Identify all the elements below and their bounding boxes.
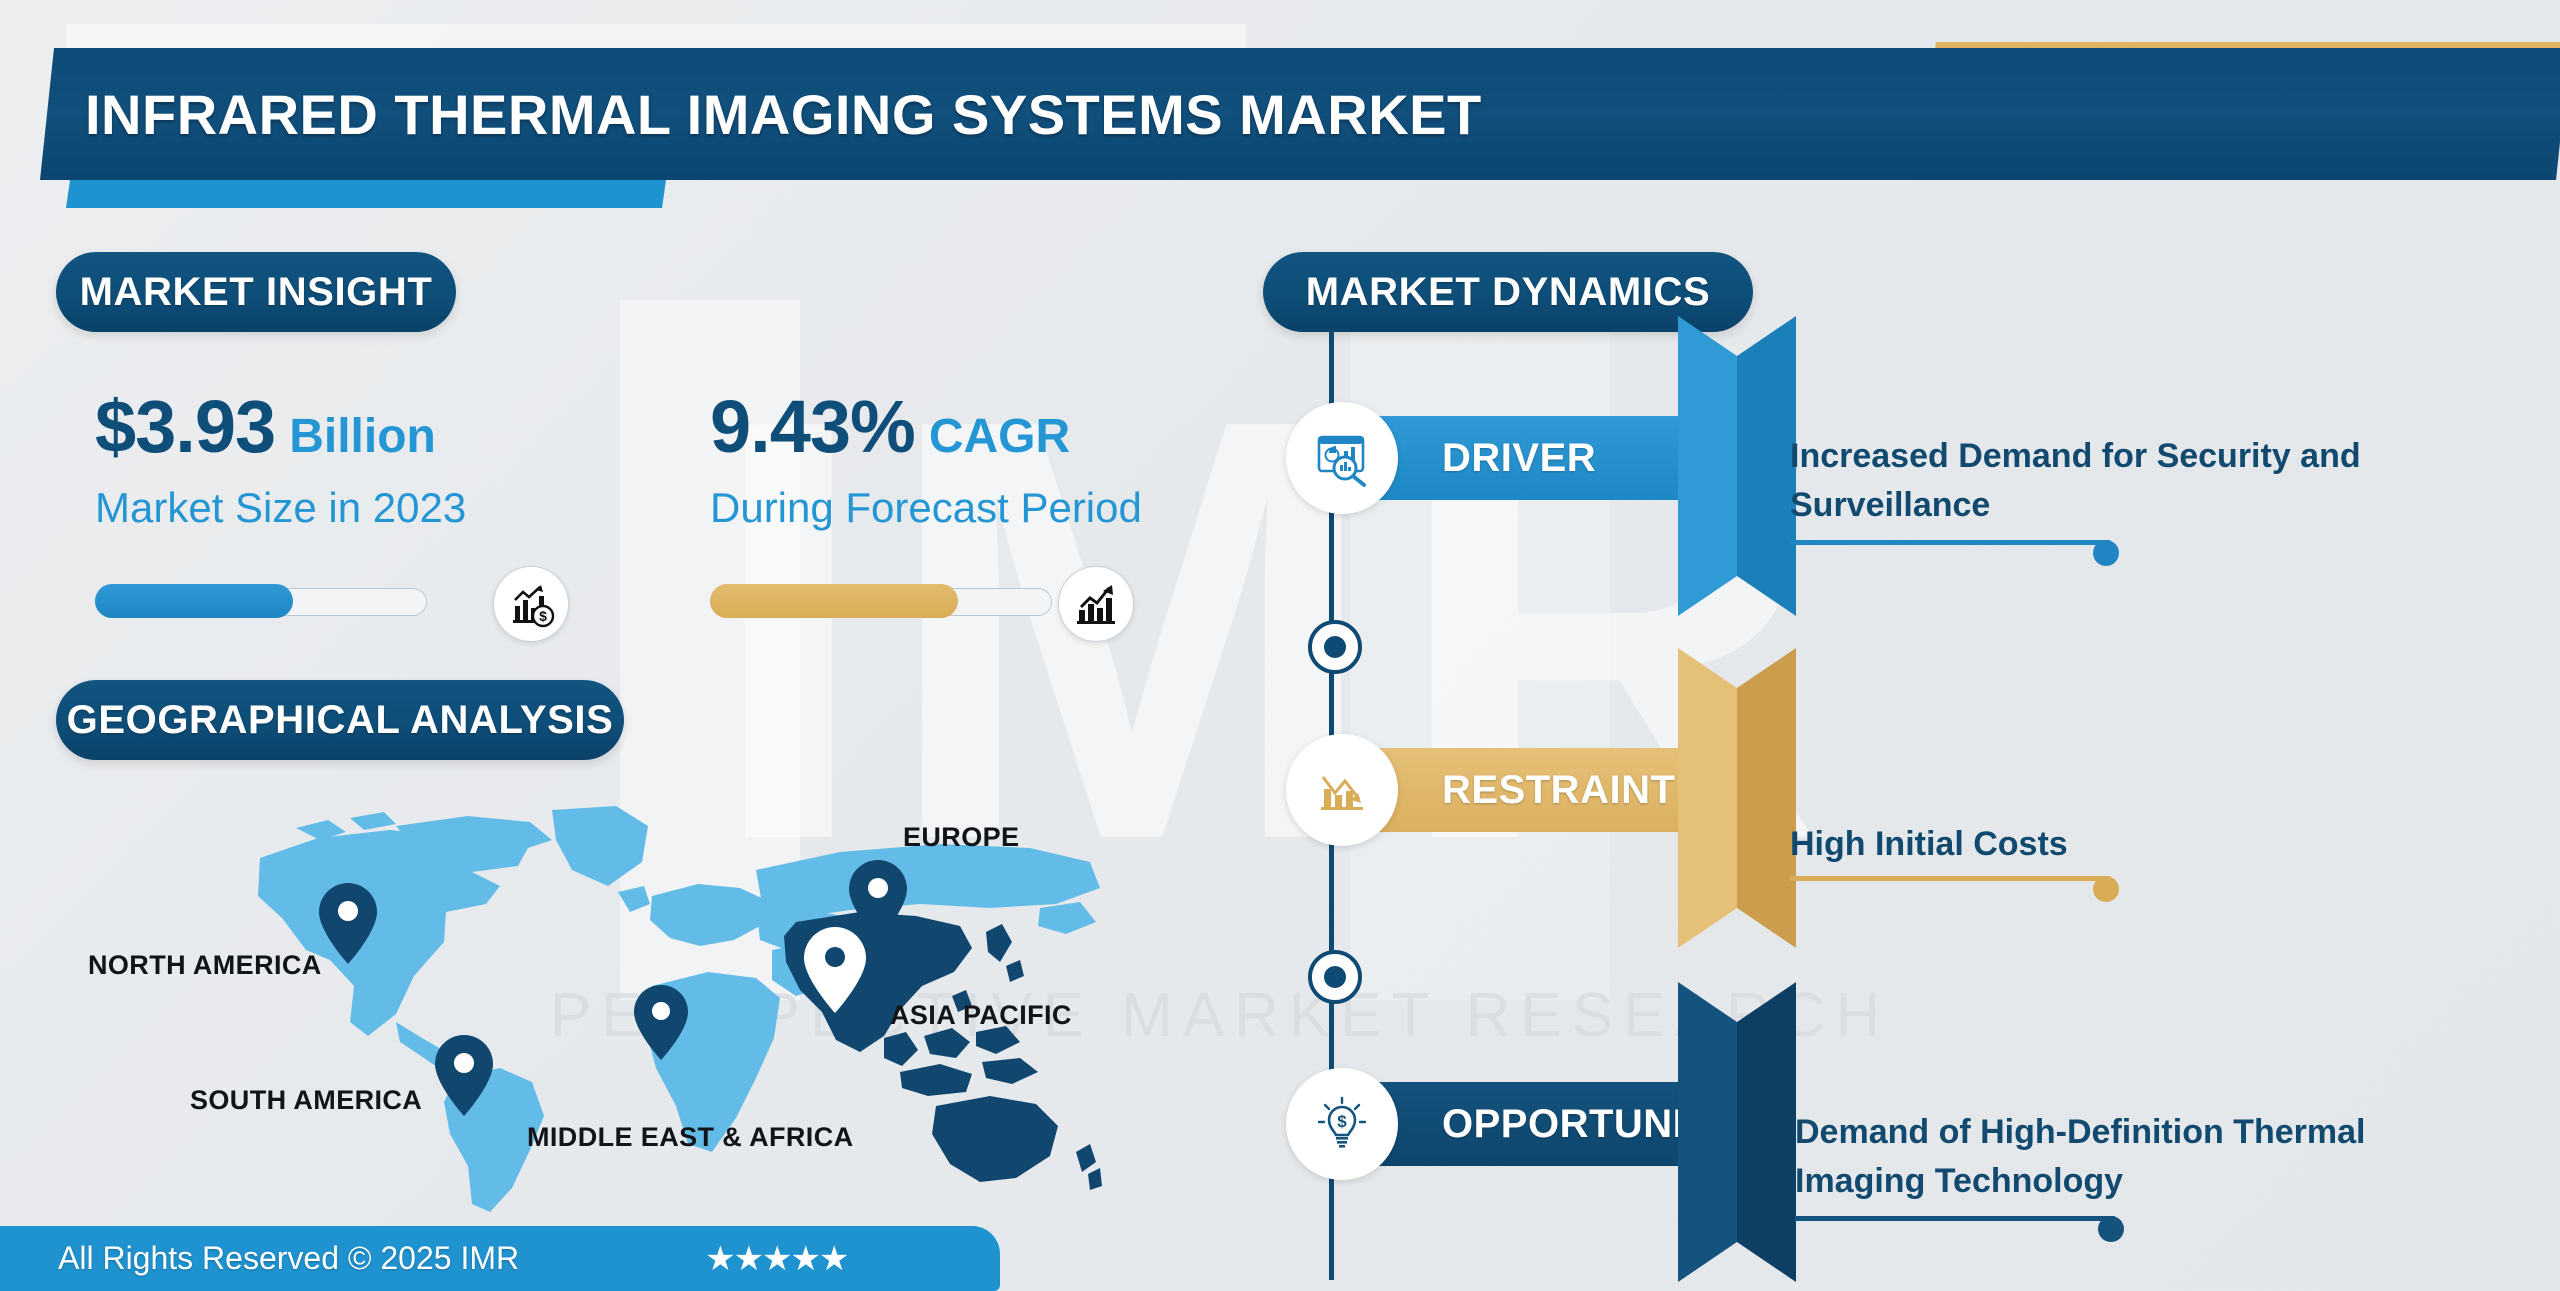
progress-fill: [710, 584, 958, 618]
timeline-node: [1308, 950, 1362, 1004]
chart-magnifier-icon: [1286, 402, 1398, 514]
cagr-value: 9.43%: [710, 385, 915, 468]
market-size-progress: $: [95, 566, 466, 640]
region-label-asia-pacific: ASIA PACIFIC: [890, 1000, 1072, 1031]
lightbulb-dollar-icon: $: [1286, 1068, 1398, 1180]
opportunity-description: Demand of High-Definition Thermal Imagin…: [1795, 1108, 2365, 1207]
world-map: [200, 800, 1230, 1220]
copyright-text: All Rights Reserved © 2025 IMR: [58, 1240, 519, 1277]
driver-description-line2: Surveillance: [1790, 481, 2361, 530]
svg-text:$: $: [1337, 1112, 1347, 1131]
footer-bar: All Rights Reserved © 2025 IMR ★★★★★: [0, 1226, 1000, 1291]
infographic-canvas: IMR PERSPECTIVE MARKET RESEARCH INFRARED…: [0, 0, 2560, 1291]
opportunity-end-dot: [2098, 1216, 2124, 1242]
stat-headline: $3.93Billion: [95, 390, 466, 464]
svg-text:$: $: [539, 608, 547, 624]
page-title: INFRARED THERMAL IMAGING SYSTEMS MARKET: [85, 82, 1482, 147]
region-label-south-america: SOUTH AMERICA: [190, 1085, 422, 1116]
declining-bar-chart-icon: [1286, 734, 1398, 846]
growth-chart-arrow-icon: [1058, 566, 1134, 642]
region-label-europe: EUROPE: [903, 822, 1019, 853]
restraint-description: High Initial Costs: [1790, 820, 2068, 869]
driver-description: Increased Demand for Security and Survei…: [1790, 432, 2361, 531]
market-size-unit: Billion: [289, 410, 436, 463]
opportunity-description-line2: Imaging Technology: [1795, 1157, 2365, 1206]
region-label-north-america: NORTH AMERICA: [88, 950, 322, 981]
badge-market-insight: MARKET INSIGHT: [56, 252, 456, 332]
driver-description-line1: Increased Demand for Security and: [1790, 432, 2361, 481]
restraint-label: RESTRAINT: [1442, 768, 1675, 813]
restraint-end-dot: [2093, 876, 2119, 902]
restraint-rule: [1790, 876, 2110, 881]
cagr-unit: CAGR: [929, 410, 1070, 463]
stat-headline: 9.43%CAGR: [710, 390, 1142, 464]
driver-ribbon: [1678, 316, 1796, 616]
opportunity-ribbon: [1678, 982, 1796, 1282]
driver-rule: [1790, 540, 2110, 545]
opportunity-description-line1: Demand of High-Definition Thermal: [1795, 1108, 2365, 1157]
market-size-caption: Market Size in 2023: [95, 484, 466, 532]
cagr-progress: [710, 566, 1130, 640]
region-label-middle-east-africa: MIDDLE EAST & AFRICA: [527, 1122, 854, 1153]
cagr-caption: During Forecast Period: [710, 484, 1142, 532]
badge-geographical-analysis: GEOGRAPHICAL ANALYSIS: [56, 680, 624, 760]
progress-fill: [95, 584, 293, 618]
driver-label: DRIVER: [1442, 436, 1596, 481]
market-size-value: $3.93: [95, 385, 275, 468]
title-banner: INFRARED THERMAL IMAGING SYSTEMS MARKET: [40, 48, 2560, 180]
title-underline-accent: [66, 180, 666, 208]
stat-market-size: $3.93Billion Market Size in 2023: [95, 390, 466, 640]
stat-cagr: 9.43%CAGR During Forecast Period: [710, 390, 1142, 640]
bar-chart-dollar-icon: $: [493, 566, 569, 642]
opportunity-rule: [1795, 1216, 2115, 1221]
rating-stars: ★★★★★: [705, 1239, 847, 1279]
restraint-ribbon: [1678, 648, 1796, 948]
timeline-node: [1308, 620, 1362, 674]
watermark-panel-right: [1350, 300, 1610, 1000]
header-ghost-strip: [66, 24, 1246, 50]
restraint-description-line1: High Initial Costs: [1790, 820, 2068, 869]
driver-end-dot: [2093, 540, 2119, 566]
